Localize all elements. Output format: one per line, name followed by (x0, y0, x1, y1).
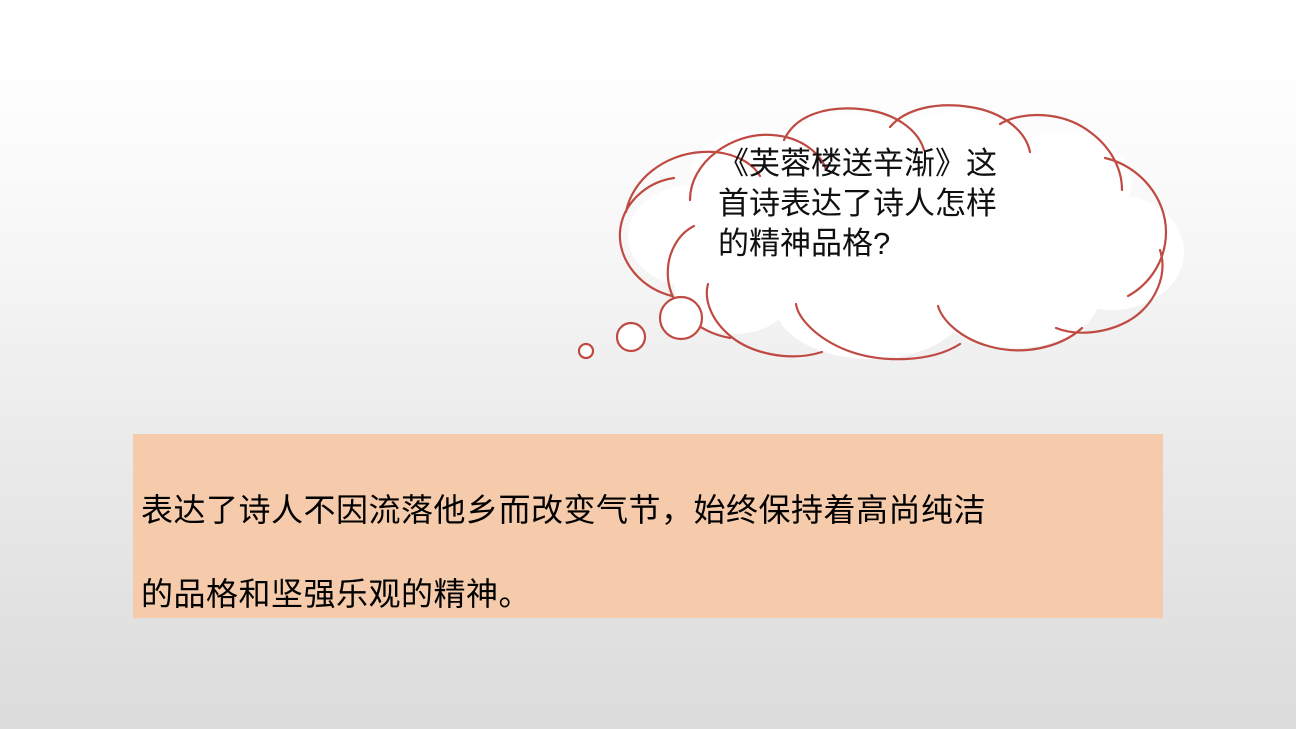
question-line-3: 的精神品格? (718, 224, 1088, 264)
slide-canvas: 《芙蓉楼送辛渐》这 首诗表达了诗人怎样 的精神品格? 表达了诗人不因流落他乡而改… (0, 0, 1296, 729)
question-line-2: 首诗表达了诗人怎样 (718, 184, 1088, 224)
tail-circle-small (579, 344, 593, 358)
question-line-1: 《芙蓉楼送辛渐》这 (718, 144, 1088, 184)
tail-circle-large (660, 297, 702, 339)
tail-circle-medium (617, 323, 645, 351)
thought-bubble-question-text: 《芙蓉楼送辛渐》这 首诗表达了诗人怎样 的精神品格? (718, 144, 1088, 264)
answer-text: 表达了诗人不因流落他乡而改变气节，始终保持着高尚纯洁 的品格和坚强乐观的精神。 (141, 468, 1145, 636)
thought-bubble: 《芙蓉楼送辛渐》这 首诗表达了诗人怎样 的精神品格? (560, 100, 1200, 370)
answer-box: 表达了诗人不因流落他乡而改变气节，始终保持着高尚纯洁 的品格和坚强乐观的精神。 (133, 434, 1163, 618)
answer-line-2: 的品格和坚强乐观的精神。 (141, 552, 1145, 636)
answer-line-1: 表达了诗人不因流落他乡而改变气节，始终保持着高尚纯洁 (141, 468, 1145, 552)
